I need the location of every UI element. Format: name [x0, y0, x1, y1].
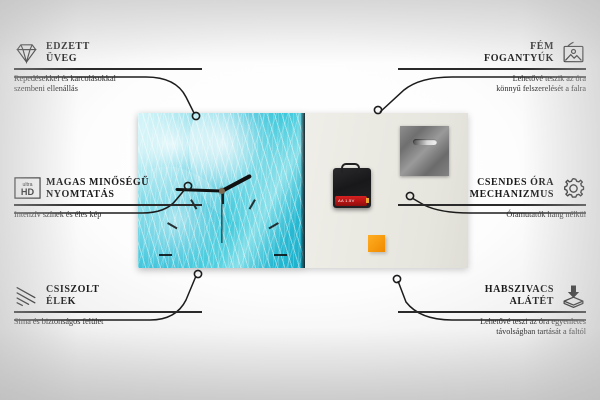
svg-text:HD: HD: [21, 187, 35, 197]
metal-hanger-bracket: [400, 126, 449, 176]
foam-pad: [368, 235, 385, 252]
gear-icon: [561, 176, 586, 201]
feature-silent-mechanism: CSENDES ÓRA MECHANIZMUS Óramutatók hang …: [398, 176, 586, 220]
feature-foam-pad: HABSZIVACS ALÁTÉT Lehetővé teszi az óra …: [398, 283, 586, 337]
clock-hour-hand: [221, 173, 252, 192]
feature-subtitle: Intenzív színek és éles kép: [14, 210, 202, 220]
feature-high-quality-print: ultra HD MAGAS MINŐSÉGŰ NYOMTATÁS Intenz…: [14, 176, 202, 220]
divider: [398, 311, 586, 313]
clock-mechanism-box: AA 1.5V: [333, 168, 371, 208]
hanger-slot: [413, 139, 437, 145]
wall-mount-icon: [561, 40, 586, 65]
ultra-hd-icon: ultra HD: [14, 176, 39, 201]
infographic-canvas: AA 1.5V: [0, 0, 600, 400]
feature-title: MAGAS MINŐSÉGŰ NYOMTATÁS: [46, 177, 149, 200]
diamond-icon: [14, 40, 39, 65]
feature-polished-edges: CSISZOLT ÉLEK Sima és biztonságos felüle…: [14, 283, 202, 327]
feature-tempered-glass: EDZETT ÜVEG Repedésekkel és karcolásokka…: [14, 40, 202, 94]
feature-subtitle: Repedésekkel és karcolásokkal szembeni e…: [14, 74, 202, 94]
battery-terminal: [366, 198, 369, 203]
mechanism-loop: [341, 163, 360, 173]
feature-title: CSISZOLT ÉLEK: [46, 284, 100, 307]
feature-title: HABSZIVACS ALÁTÉT: [485, 284, 554, 307]
battery-label: AA 1.5V: [338, 198, 355, 203]
divider: [14, 68, 202, 70]
feature-title: FÉM FOGANTYÚK: [484, 41, 554, 64]
divider: [14, 204, 202, 206]
battery: AA 1.5V: [335, 196, 367, 206]
clock-second-hand: [221, 191, 222, 243]
clock-center-hub: [219, 188, 225, 194]
divider: [398, 204, 586, 206]
feature-subtitle: Lehetővé teszik az óra könnyű felszerelé…: [398, 74, 586, 94]
feature-title: CSENDES ÓRA MECHANIZMUS: [470, 177, 554, 200]
polished-edges-icon: [14, 283, 39, 308]
divider: [14, 311, 202, 313]
feature-subtitle: Óramutatók hang nélkül: [398, 210, 586, 220]
feature-metal-handles: FÉM FOGANTYÚK Lehetővé teszik az óra kön…: [398, 40, 586, 94]
divider: [398, 68, 586, 70]
feature-subtitle: Lehetővé teszi az óra egyenletes távolsá…: [398, 317, 586, 337]
feature-title: EDZETT ÜVEG: [46, 41, 90, 64]
feature-subtitle: Sima és biztonságos felület: [14, 317, 202, 327]
foam-pad-icon: [561, 283, 586, 308]
